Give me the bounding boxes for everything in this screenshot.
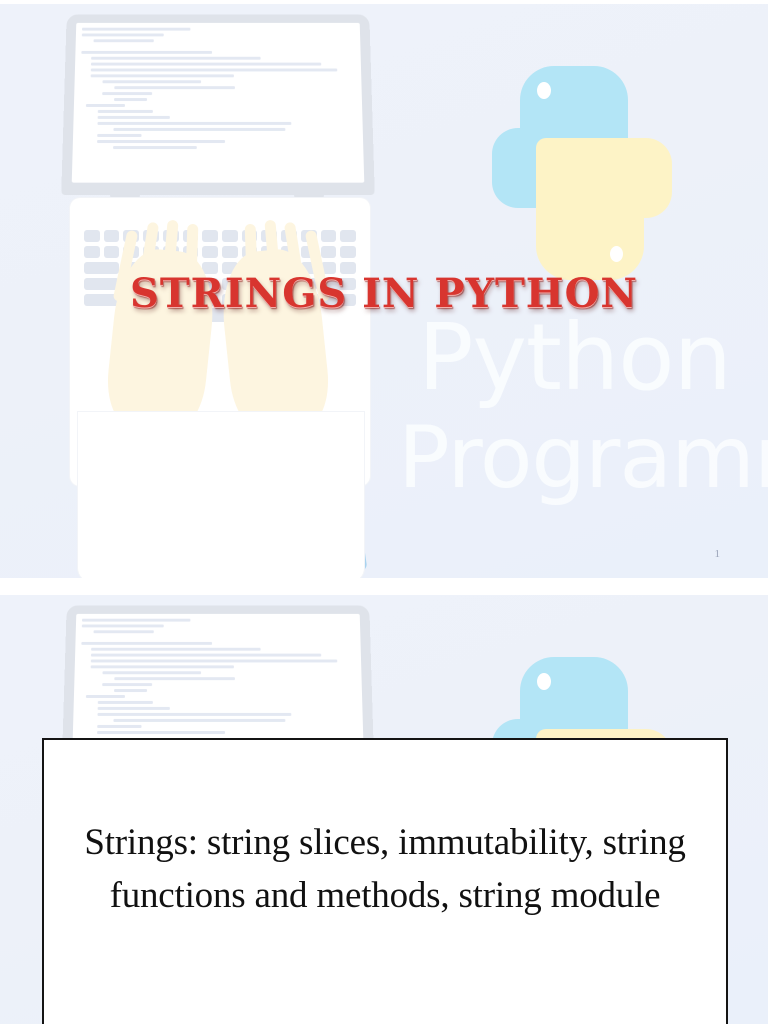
- python-logo: [492, 66, 672, 281]
- slide-1-title: STRINGS IN PYTHON: [0, 274, 768, 314]
- right-sleeve: [301, 461, 368, 577]
- python-logo-bottom-snake: [536, 138, 644, 280]
- laptop-hinge-left: [110, 192, 140, 200]
- laptop-screen: [72, 23, 365, 183]
- laptop-lid: [61, 14, 375, 195]
- content-box-text: Strings: string slices, immutability, st…: [44, 817, 726, 968]
- slide-1[interactable]: Python Programming: [0, 4, 768, 578]
- right-sleeve-inner: [281, 462, 332, 576]
- watermark-python: Python: [418, 304, 731, 411]
- slide-deck: Python Programming: [0, 0, 768, 1024]
- left-sleeve: [85, 461, 152, 577]
- page-number: 1: [715, 548, 721, 560]
- laptop-base: [70, 198, 370, 486]
- laptop-front-edge: [78, 412, 364, 578]
- content-text-box: Strings: string slices, immutability, st…: [42, 738, 728, 1024]
- watermark-programming: Programming: [398, 408, 768, 508]
- laptop-hinge-right: [294, 192, 324, 200]
- left-sleeve-inner: [117, 462, 168, 576]
- slide-2[interactable]: Strings: string slices, immutability, st…: [0, 595, 768, 1024]
- python-logo-top-snake: [520, 66, 628, 208]
